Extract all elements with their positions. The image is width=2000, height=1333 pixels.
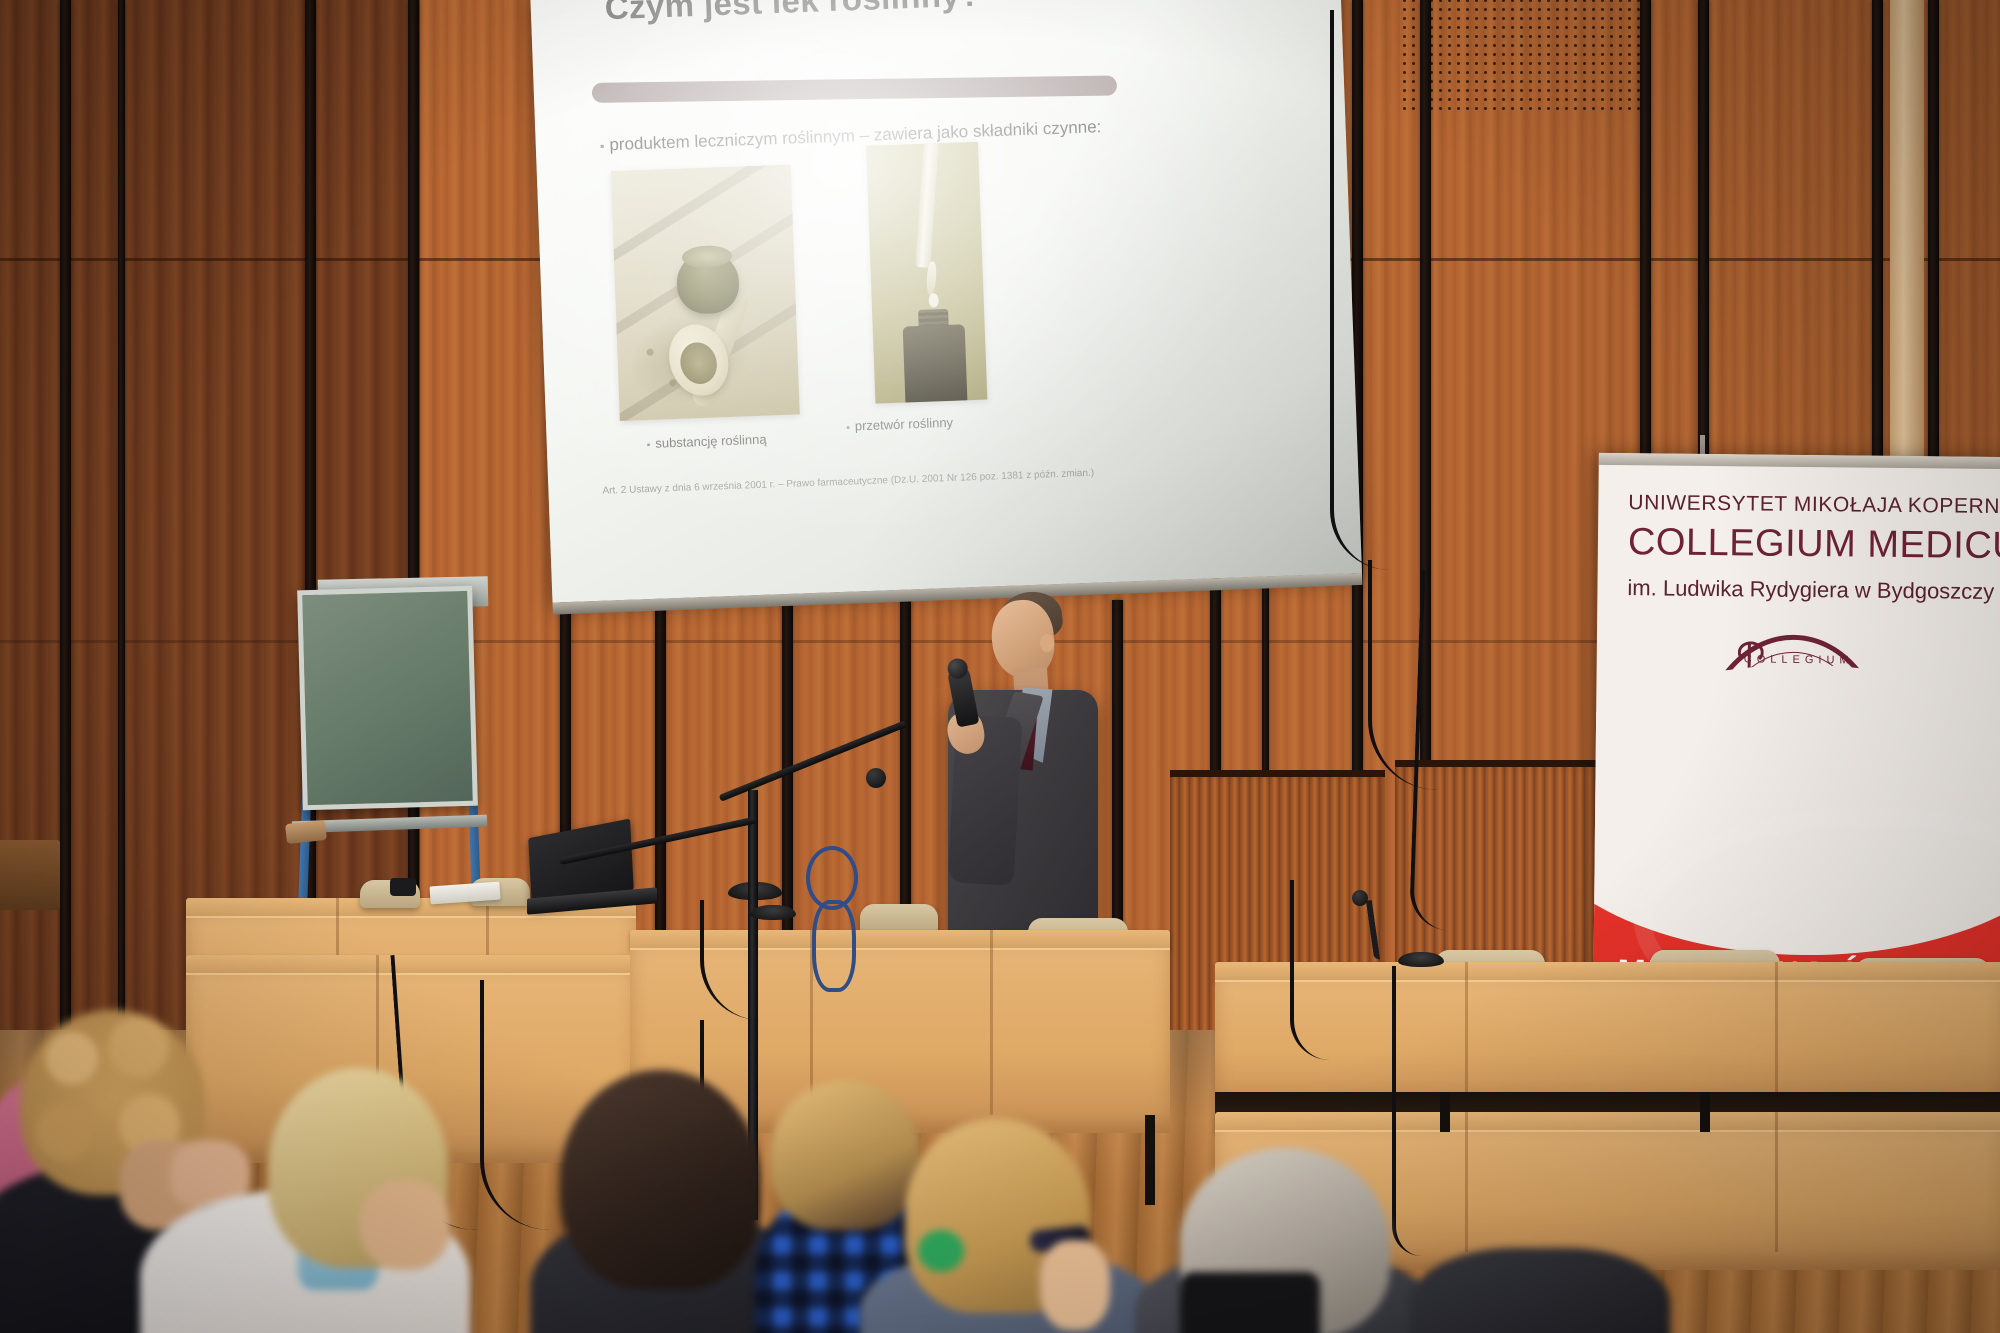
slide-bullet-text: produktem leczniczym roślinnym – zawiera… — [599, 117, 1101, 155]
slide-title: Czym jest lek roślinny? — [604, 0, 981, 27]
projected-slide: Czym jest lek roślinny? produktem leczni… — [530, 0, 1362, 603]
wooden-podium — [0, 840, 60, 910]
bag — [1180, 1272, 1320, 1333]
desk-object — [390, 878, 416, 896]
slide-footnote: Art. 2 Ustawy z dnia 6 września 2001 r. … — [602, 468, 1094, 497]
microphone-base — [750, 905, 796, 920]
slide-image-herbs — [611, 165, 800, 421]
lecture-hall-photo: Czym jest lek roślinny? produktem leczni… — [0, 0, 2000, 1333]
banner-collegium-medicum: COLLEGIUM MEDICUM — [1628, 521, 2000, 569]
banner-subtitle: im. Ludwika Rydygiera w Bydgoszczy — [1627, 575, 2000, 606]
hanging-cable — [1290, 880, 1330, 1060]
desk-leg — [1440, 1092, 1450, 1132]
banner-university-name: UNIWERSYTET MIKOŁAJA KOPERNIKA — [1628, 491, 2000, 520]
slide-caption-right: przetwór roślinny — [846, 415, 953, 434]
blue-cable-coil — [812, 900, 856, 992]
microphone-head — [866, 768, 886, 788]
desk-leg — [1145, 1115, 1155, 1205]
chalkboard — [297, 586, 478, 811]
slide-image-dropper — [866, 142, 987, 404]
desk-leg — [1700, 1092, 1710, 1132]
chalkboard-eraser — [285, 820, 327, 844]
hair-tie — [918, 1230, 964, 1272]
slide-accent-bar — [592, 76, 1117, 103]
microphone-base — [1398, 952, 1444, 967]
mic-cable — [1392, 966, 1422, 1256]
lecture-desk — [1215, 962, 2000, 1092]
slide-caption-left: substancję roślinną — [646, 432, 766, 451]
presenter-ear — [1040, 634, 1054, 652]
projection-screen: Czym jest lek roślinny? produktem leczni… — [530, 0, 1363, 628]
acoustic-panel — [1400, 0, 1640, 116]
microphone-head — [1352, 890, 1368, 906]
hanging-cable — [1368, 560, 1438, 790]
wall-batten — [60, 0, 71, 1180]
wall-batten — [118, 0, 125, 1180]
projector-cable — [1330, 10, 1390, 570]
